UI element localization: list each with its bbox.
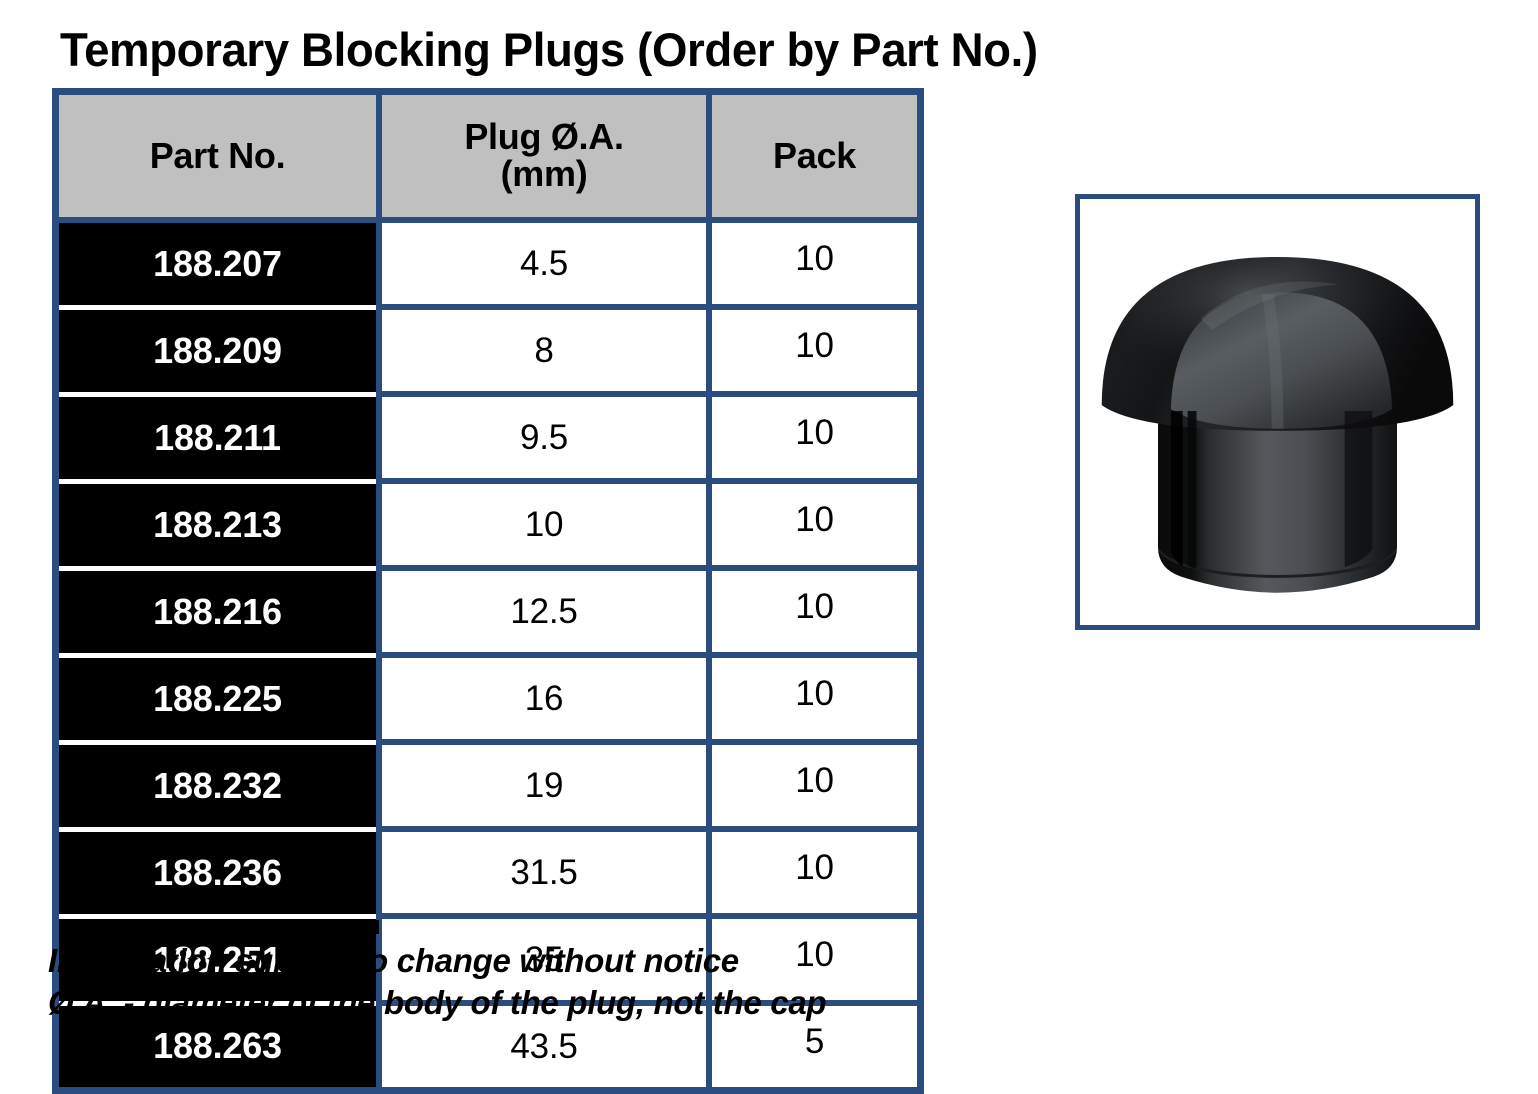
product-image-panel [1075,194,1480,630]
cell-plug-diameter: 4.5 [379,220,709,307]
cell-pack: 10 [709,220,917,307]
parts-table: Part No. Plug Ø.A. (mm) Pack 188.2074.51… [59,95,917,1087]
cell-plug-diameter: 9.5 [379,394,709,481]
cell-part-no: 188.207 [59,220,379,307]
cell-plug-diameter: 31.5 [379,829,709,916]
cell-part-no: 188.236 [59,829,379,916]
cell-plug-diameter: 8 [379,307,709,394]
column-header-plug-diameter: Plug Ø.A. (mm) [379,95,709,220]
column-header-part-no: Part No. [59,95,379,220]
footnote-disclaimer: Information subject to change without no… [48,940,826,982]
cell-part-no: 188.216 [59,568,379,655]
page-title: Temporary Blocking Plugs (Order by Part … [60,22,1038,77]
cell-pack: 10 [709,829,917,916]
cell-part-no: 188.225 [59,655,379,742]
cell-pack: 10 [709,568,917,655]
cell-pack: 10 [709,742,917,829]
table-row: 188.2251610 [59,655,917,742]
cell-plug-diameter: 12.5 [379,568,709,655]
cell-part-no: 188.232 [59,742,379,829]
column-header-plug-diameter-line2: (mm) [501,153,588,194]
table-row: 188.23631.510 [59,829,917,916]
table-row: 188.2131010 [59,481,917,568]
footnote-diameter-definition: Ø.A. - diameter of the body of the plug,… [48,982,826,1024]
table-header-row: Part No. Plug Ø.A. (mm) Pack [59,95,917,220]
table-row: 188.2321910 [59,742,917,829]
table-row: 188.21612.510 [59,568,917,655]
cell-plug-diameter: 19 [379,742,709,829]
cell-part-no: 188.209 [59,307,379,394]
table-row: 188.209810 [59,307,917,394]
cell-plug-diameter: 16 [379,655,709,742]
part-no-column-overhang [59,920,379,934]
table-header: Part No. Plug Ø.A. (mm) Pack [59,95,917,220]
column-header-pack: Pack [709,95,917,220]
cell-part-no: 188.211 [59,394,379,481]
cell-plug-diameter: 10 [379,481,709,568]
table-row: 188.2119.510 [59,394,917,481]
cell-pack: 10 [709,481,917,568]
cell-pack: 10 [709,307,917,394]
table-row: 188.2074.510 [59,220,917,307]
column-header-plug-diameter-line1: Plug Ø.A. [464,116,623,157]
cell-pack: 10 [709,394,917,481]
cell-pack: 10 [709,655,917,742]
cell-part-no: 188.213 [59,481,379,568]
footnotes: Information subject to change without no… [48,940,826,1024]
blocking-plug-photo [1080,199,1475,625]
